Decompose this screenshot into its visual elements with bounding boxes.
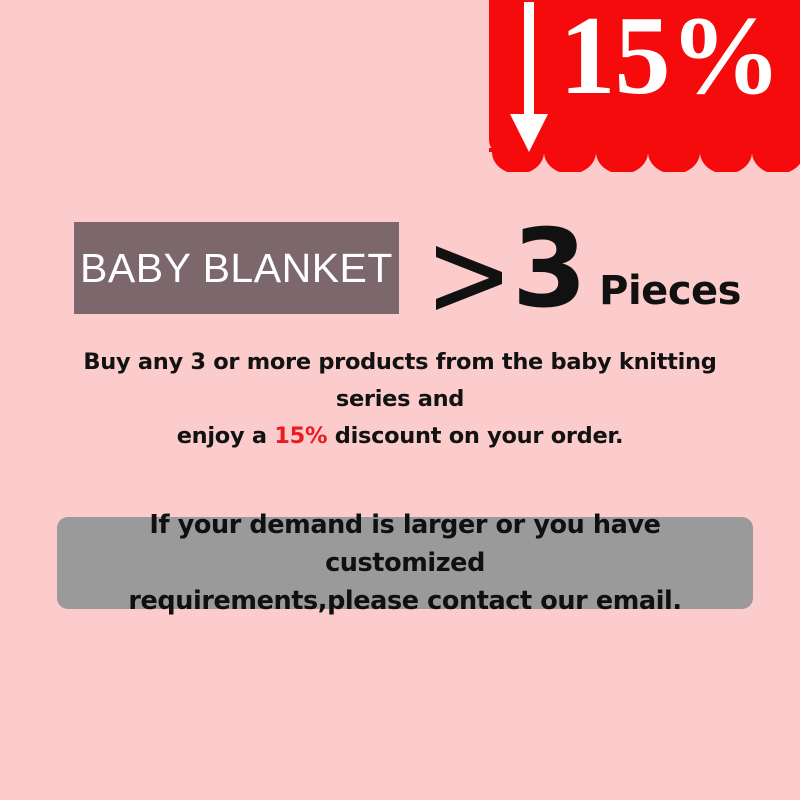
offer-description-highlight: 15% [274, 423, 327, 449]
discount-badge: 15% [489, 0, 800, 154]
greater-than-or-equal-icon [432, 242, 506, 312]
offer-description-line-1: Buy any 3 or more products from the baby… [83, 349, 716, 412]
promo-banner: 15% BABY BLANKET 3 Pieces Buy any 3 or m… [0, 0, 800, 800]
contact-notice-text: If your demand is larger or you have cus… [71, 517, 739, 609]
offer-description: Buy any 3 or more products from the baby… [62, 344, 738, 455]
arrow-down-icon [503, 2, 555, 154]
quantity-requirement: 3 Pieces [432, 216, 741, 320]
category-tag: BABY BLANKET [74, 222, 399, 314]
offer-description-line-2-prefix: enjoy a [177, 423, 275, 449]
category-tag-label: BABY BLANKET [74, 222, 399, 314]
contact-notice-line-2: requirements,please contact our email. [128, 582, 681, 620]
quantity-number: 3 [512, 220, 585, 320]
contact-notice-line-1: If your demand is larger or you have cus… [71, 506, 739, 582]
offer-description-line-2-suffix: discount on your order. [327, 423, 623, 449]
discount-percent-label: 15% [555, 0, 785, 118]
quantity-unit-label: Pieces [599, 268, 741, 314]
contact-notice-box: If your demand is larger or you have cus… [57, 517, 753, 609]
